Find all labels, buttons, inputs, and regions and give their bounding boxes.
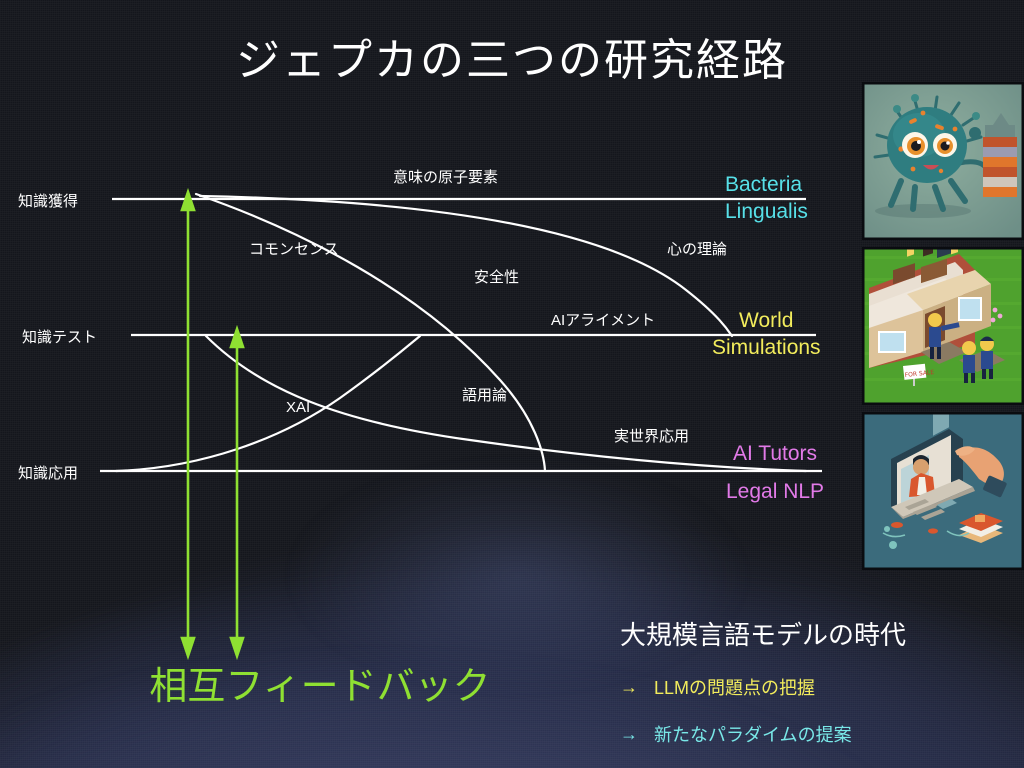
right-label-simulations: Simulations xyxy=(712,337,821,360)
arrow-right-icon: → xyxy=(620,677,654,698)
era-bullet-2: → 新たなパラダイムの提案 xyxy=(620,721,852,747)
curve-label-ai-alignment: AIアライメント xyxy=(551,309,655,330)
curve-label-pragmatics: 語用論 xyxy=(462,384,507,405)
right-label-legal-nlp: Legal NLP xyxy=(726,481,824,504)
right-label-bacteria: Bacteria xyxy=(725,174,802,197)
curve-label-semantic-atoms: 意味の原子要素 xyxy=(393,166,498,187)
curve-xai xyxy=(116,336,420,471)
thumbnail-bacteria-with-books xyxy=(862,82,1024,240)
right-label-world: World xyxy=(739,310,793,333)
curve-world-simulations xyxy=(196,194,545,471)
curve-label-theory-of-mind: 心の理論 xyxy=(667,238,727,259)
right-label-ai-tutors: AI Tutors xyxy=(733,443,817,466)
axis-label-knowledge-test: 知識テスト xyxy=(22,326,97,347)
axis-label-knowledge-acquisition: 知識獲得 xyxy=(18,190,78,211)
feedback-arrow-long xyxy=(182,192,194,656)
era-heading: 大規模言語モデルの時代 xyxy=(620,615,906,652)
curve-label-safety: 安全性 xyxy=(474,266,519,287)
feedback-arrow-short xyxy=(231,329,243,656)
axis-label-knowledge-application: 知識応用 xyxy=(18,462,78,483)
isometric-house-illustration-icon: FOR SALE xyxy=(863,248,1023,404)
online-tutor-illustration-icon xyxy=(863,413,1023,569)
curve-label-xai: XAI xyxy=(286,399,310,416)
bacteria-illustration-icon xyxy=(863,83,1023,239)
curve-label-common-sense: コモンセンス xyxy=(249,238,339,259)
era-bullet-1: → LLMの問題点の把握 xyxy=(620,674,815,700)
mutual-feedback-label: 相互フィードバック xyxy=(110,655,530,710)
slide-canvas: ジェプカの三つの研究経路 知識獲得 知識テスト 知識応用 意味の原子要素 コモン xyxy=(0,0,1024,768)
era-bullet-2-text: 新たなパラダイムの提案 xyxy=(654,721,852,747)
thumbnail-isometric-house: FOR SALE xyxy=(862,247,1024,405)
thumbnail-laptop-tutor xyxy=(862,412,1024,570)
era-bullet-1-text: LLMの問題点の把握 xyxy=(654,674,815,700)
right-label-lingualis: Lingualis xyxy=(725,201,808,224)
curve-label-real-world-application: 実世界応用 xyxy=(614,425,689,446)
arrow-right-icon: → xyxy=(620,724,654,745)
